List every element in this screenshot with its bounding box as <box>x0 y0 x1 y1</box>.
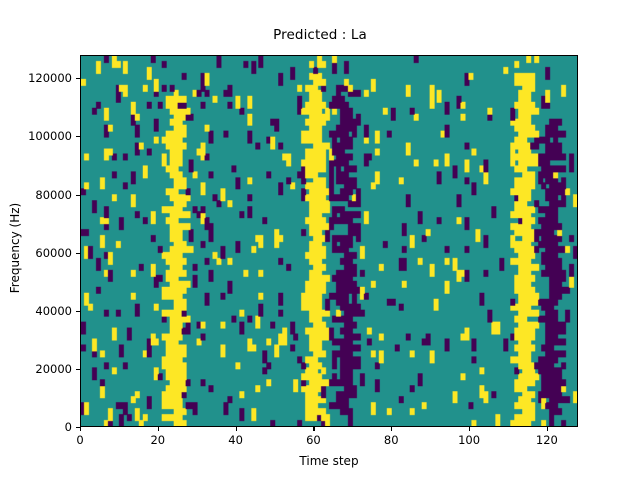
y-axis-label: Frequency (Hz) <box>8 148 22 348</box>
x-tick-label: 120 <box>517 433 577 447</box>
y-tick-mark <box>76 369 80 370</box>
x-tick-mark <box>391 427 392 431</box>
heatmap-axes <box>80 55 578 427</box>
y-tick-mark <box>76 253 80 254</box>
x-tick-label: 80 <box>361 433 421 447</box>
y-tick-mark <box>76 78 80 79</box>
x-tick-mark <box>469 427 470 431</box>
y-tick-label: 0 <box>6 420 72 434</box>
y-tick-mark <box>76 136 80 137</box>
x-tick-mark <box>313 427 314 431</box>
x-tick-mark <box>80 427 81 431</box>
chart-title: Predicted : La <box>0 27 640 43</box>
x-tick-label: 60 <box>283 433 343 447</box>
y-tick-mark <box>76 311 80 312</box>
x-tick-label: 20 <box>128 433 188 447</box>
y-tick-label: 120000 <box>6 71 72 85</box>
x-tick-label: 100 <box>439 433 499 447</box>
heatmap-image <box>81 56 577 426</box>
y-tick-label: 20000 <box>6 362 72 376</box>
y-tick-mark <box>76 195 80 196</box>
x-axis-label: Time step <box>80 454 578 468</box>
x-tick-label: 0 <box>50 433 110 447</box>
y-tick-label: 100000 <box>6 129 72 143</box>
x-tick-label: 40 <box>206 433 266 447</box>
x-tick-mark <box>158 427 159 431</box>
x-tick-mark <box>236 427 237 431</box>
x-tick-mark <box>547 427 548 431</box>
matplotlib-figure: Predicted : La 0200004000060000800001000… <box>0 0 640 480</box>
